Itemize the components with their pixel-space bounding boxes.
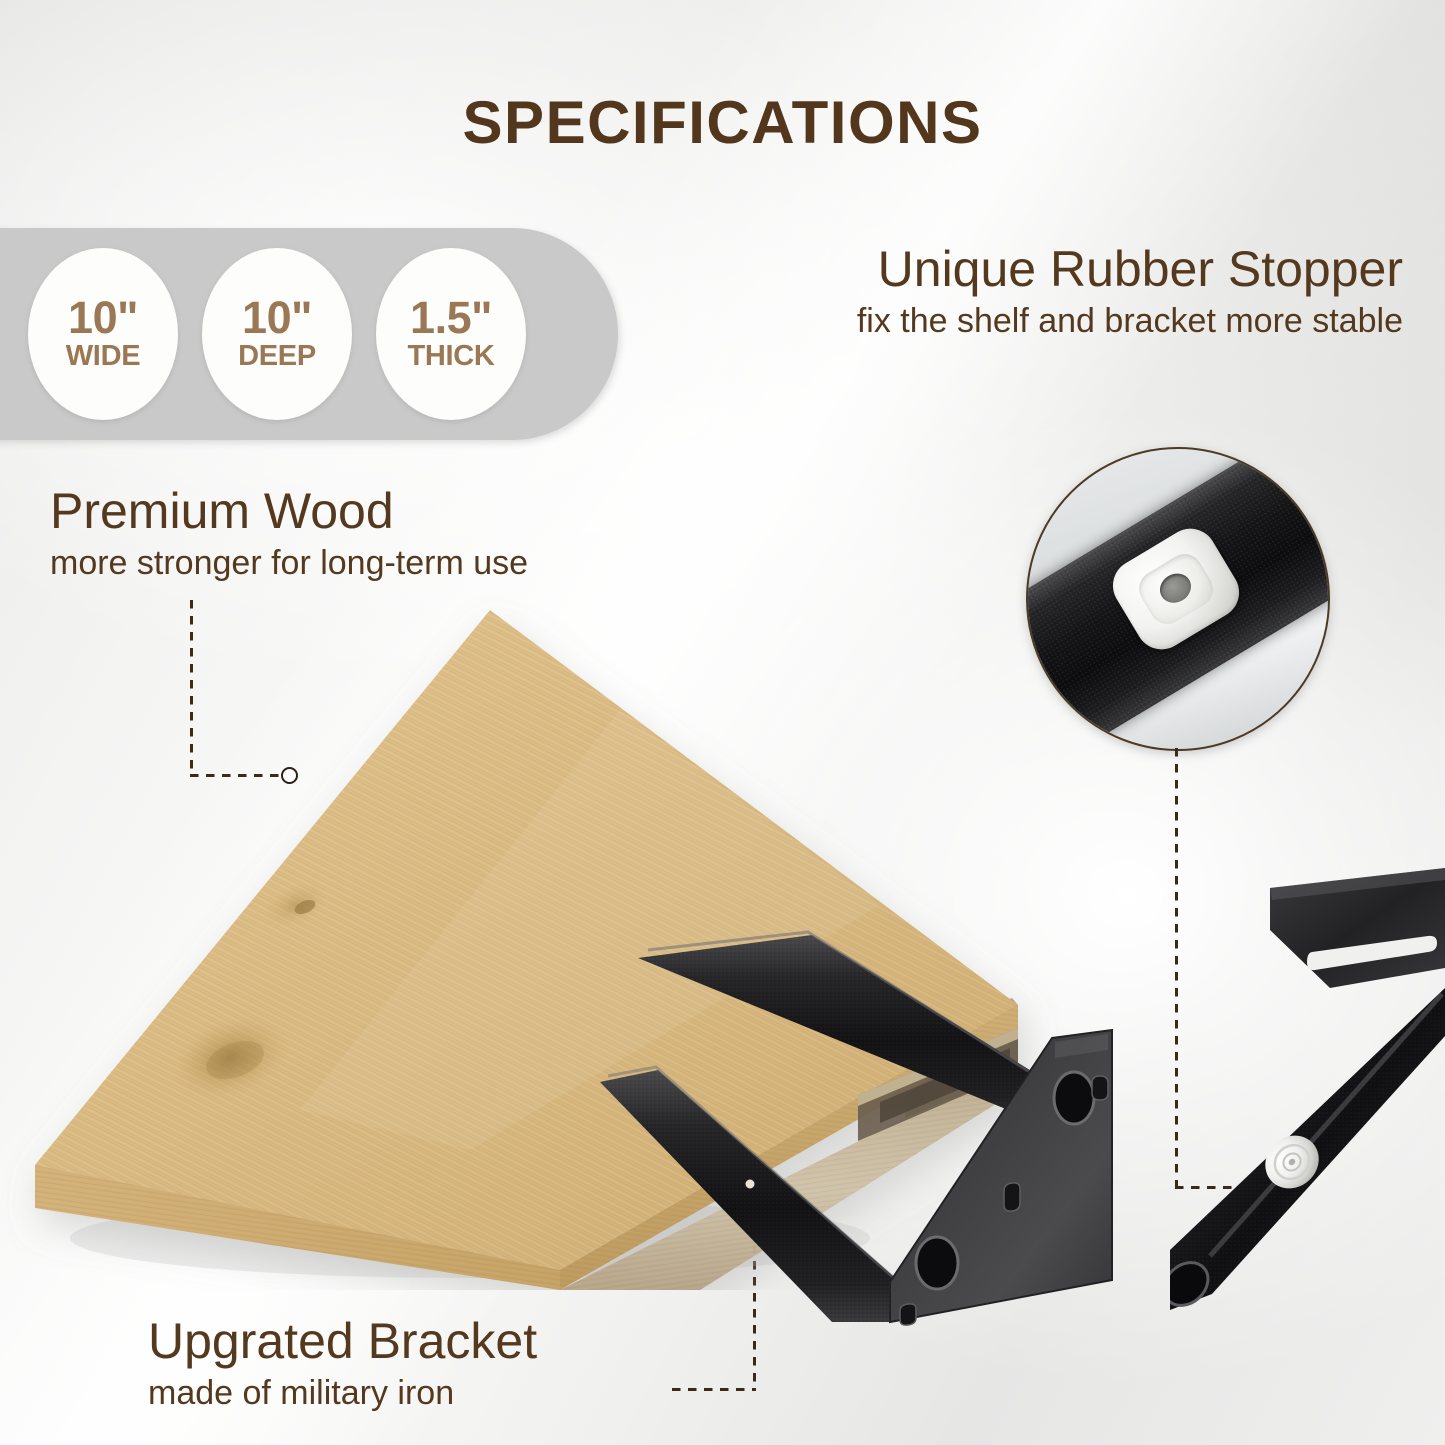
spec-badge-thickness-unit: THICK: [407, 340, 494, 373]
callout-upgrated-bracket-heading: Upgrated Bracket: [148, 1315, 537, 1368]
spec-badge-width: 10" WIDE: [28, 248, 178, 420]
callout-rubber-stopper-heading: Unique Rubber Stopper: [857, 243, 1403, 296]
callout-premium-wood-heading: Premium Wood: [50, 485, 528, 538]
callout-upgrated-bracket-subheading: made of military iron: [148, 1374, 537, 1413]
spec-badge-thickness-value: 1.5": [410, 295, 492, 340]
page-title: SPECIFICATIONS: [0, 88, 1445, 157]
callout-rubber-stopper-subheading: fix the shelf and bracket more stable: [857, 302, 1403, 341]
spec-badge-group: 10" WIDE 10" DEEP 1.5" THICK: [28, 248, 526, 420]
shelf-bracket-right: [1170, 860, 1445, 1310]
shelf-bracket-left: [600, 930, 1220, 1350]
spec-badge-width-value: 10": [68, 295, 138, 340]
spec-badge-depth: 10" DEEP: [202, 248, 352, 420]
spec-badge-depth-value: 10": [242, 295, 312, 340]
leader-line-bracket-horizontal: [672, 1388, 756, 1391]
callout-premium-wood-subheading: more stronger for long-term use: [50, 544, 528, 583]
spec-badge-depth-unit: DEEP: [238, 340, 316, 373]
specifications-infographic: SPECIFICATIONS 10" WIDE 10" DEEP 1.5" TH…: [0, 0, 1445, 1445]
bracket-rod-front: [600, 1067, 900, 1322]
bracket-slot-upper: [1092, 1076, 1108, 1100]
spec-badge-thickness: 1.5" THICK: [376, 248, 526, 420]
callout-premium-wood: Premium Wood more stronger for long-term…: [50, 485, 528, 583]
spec-badge-width-unit: WIDE: [66, 340, 141, 373]
bracket-slot-lower: [900, 1304, 916, 1325]
bracket-rod-pin: [746, 1180, 755, 1189]
rubber-stopper-zoom-inset: [1026, 447, 1330, 751]
callout-upgrated-bracket: Upgrated Bracket made of military iron: [148, 1315, 537, 1413]
bracket-slot-mid: [1004, 1183, 1020, 1211]
callout-rubber-stopper: Unique Rubber Stopper fix the shelf and …: [857, 243, 1403, 341]
bracket-top-plate: [1270, 868, 1445, 988]
bracket-rod-back: [638, 932, 1062, 1128]
